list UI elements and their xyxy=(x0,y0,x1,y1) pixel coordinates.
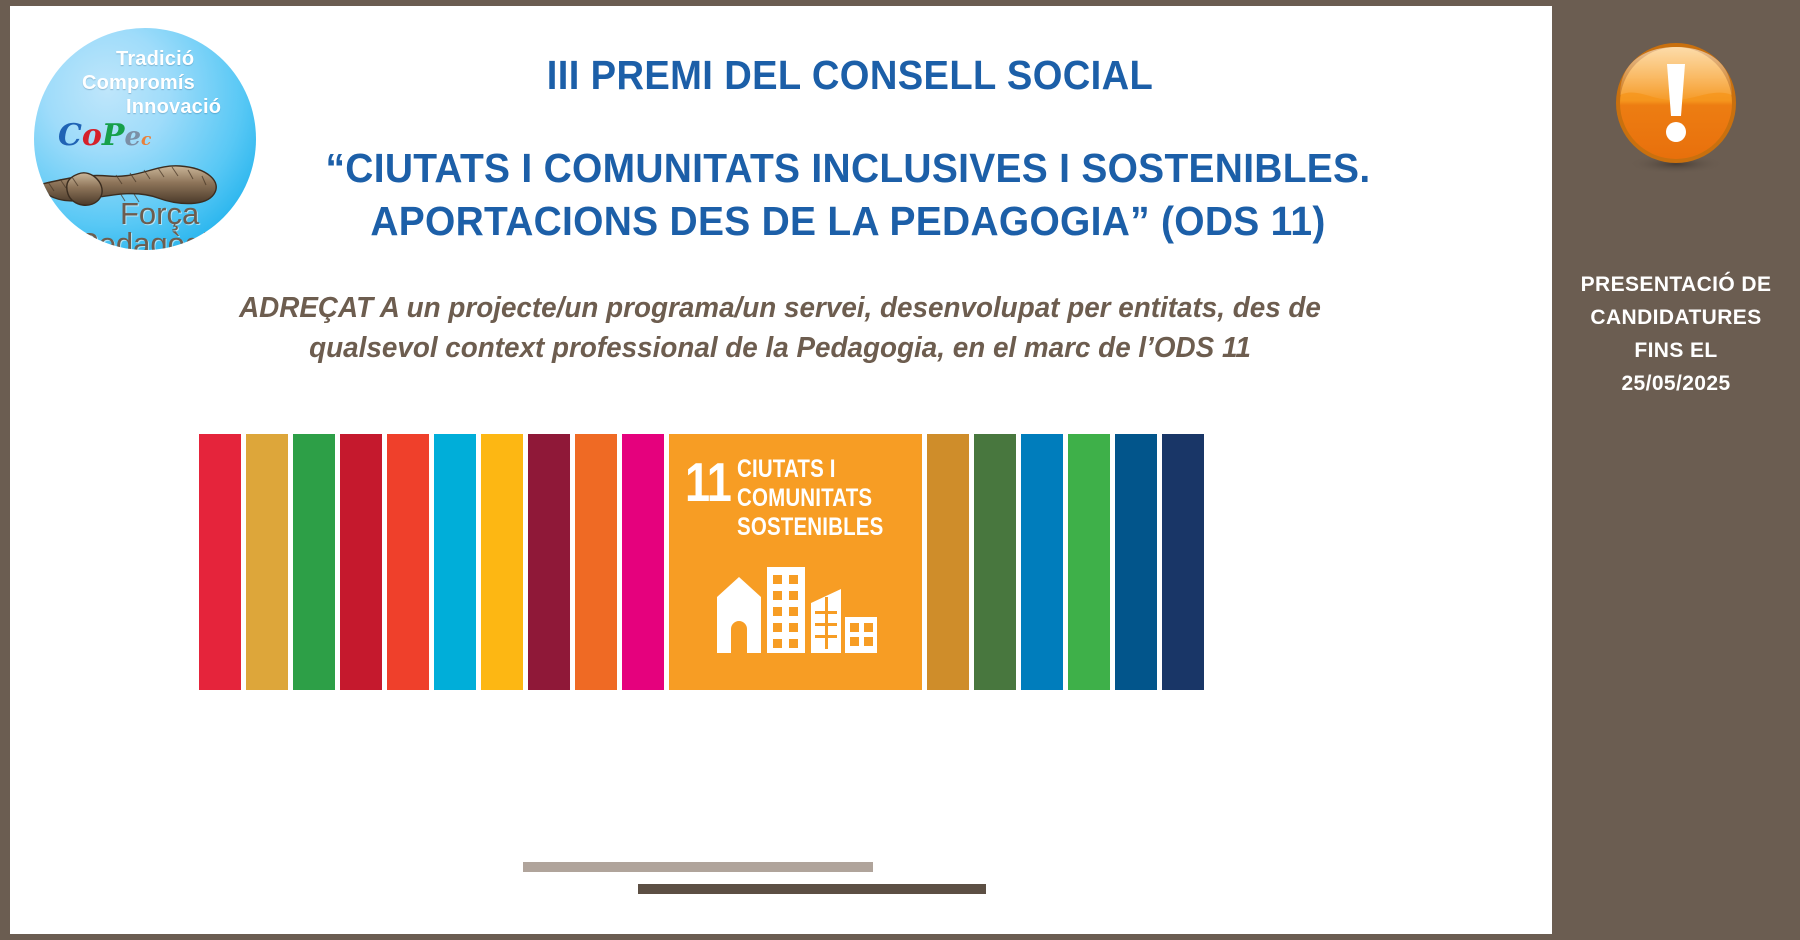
deadline-text: PRESENTACIÓ DE CANDIDATURES FINS EL 25/0… xyxy=(1552,268,1800,400)
addressed-to-line1: ADREÇAT A un projecte/un programa/un ser… xyxy=(223,288,1337,328)
sdg-stripe-8 xyxy=(528,434,570,690)
sdg-11-label: CIUTATS I COMUNITATS SOSTENIBLES xyxy=(737,455,883,542)
sdg-11-label-line3: SOSTENIBLES xyxy=(737,513,883,542)
addressed-to-line2: qualsevol context professional de la Ped… xyxy=(223,328,1337,368)
page-subtitle-line1: “CIUTATS I COMUNITATS INCLUSIVES I SOSTE… xyxy=(288,142,1409,195)
slide-white-card: Tradició Compromís Innovació CoPec xyxy=(10,6,1552,934)
sdg-stripe-5 xyxy=(387,434,429,690)
slide-root: Tradició Compromís Innovació CoPec xyxy=(0,0,1800,940)
decorative-bar-dark xyxy=(638,884,986,894)
copec-forca-pedagogica-logo: Tradició Compromís Innovació CoPec xyxy=(34,28,256,250)
sdg-11-number: 11 xyxy=(685,456,731,508)
sdg-stripe-13 xyxy=(974,434,1016,690)
sdg-stripe-7 xyxy=(481,434,523,690)
sdg-stripe-4 xyxy=(340,434,382,690)
page-subtitle-line2: APORTACIONS DES DE LA PEDAGOGIA” (ODS 11… xyxy=(288,195,1409,248)
sdg-stripe-16 xyxy=(1115,434,1157,690)
deadline-date: 25/05/2025 xyxy=(1552,367,1800,400)
sdg-11-card: 11 CIUTATS I COMUNITATS SOSTENIBLES xyxy=(669,434,922,690)
city-buildings-icon xyxy=(717,567,877,672)
sdg-stripe-17 xyxy=(1162,434,1204,690)
addressed-to-text: ADREÇAT A un projecte/un programa/un ser… xyxy=(223,288,1337,368)
sdg-stripe-15 xyxy=(1068,434,1110,690)
deadline-line-2: CANDIDATURES xyxy=(1552,301,1800,334)
sdg-stripe-1 xyxy=(199,434,241,690)
sdg-stripe-10 xyxy=(622,434,664,690)
exclamation-alert-icon xyxy=(1607,40,1745,178)
deadline-line-1: PRESENTACIÓ DE xyxy=(1552,268,1800,301)
sdg-stripe-14 xyxy=(1021,434,1063,690)
sdg-color-strip: 11 CIUTATS I COMUNITATS SOSTENIBLES xyxy=(199,434,1284,690)
logo-tagline-tradicio: Tradició xyxy=(116,48,194,71)
page-title: III PREMI DEL CONSELL SOCIAL xyxy=(311,52,1390,99)
logo-tagline-compromis: Compromís xyxy=(82,72,195,95)
decorative-bar-light xyxy=(523,862,873,872)
deadline-panel: PRESENTACIÓ DE CANDIDATURES FINS EL 25/0… xyxy=(1552,0,1800,940)
sdg-11-label-line1: CIUTATS I xyxy=(737,455,883,484)
deadline-line-3: FINS EL xyxy=(1552,334,1800,367)
logo-word-pedagogica: Pedagògica xyxy=(78,226,242,250)
sdg-stripe-6 xyxy=(434,434,476,690)
page-subtitle: “CIUTATS I COMUNITATS INCLUSIVES I SOSTE… xyxy=(288,142,1409,248)
sdg-stripe-9 xyxy=(575,434,617,690)
sdg-stripe-12 xyxy=(927,434,969,690)
sdg-11-label-line2: COMUNITATS xyxy=(737,484,883,513)
sdg-stripe-2 xyxy=(246,434,288,690)
sdg-stripe-3 xyxy=(293,434,335,690)
